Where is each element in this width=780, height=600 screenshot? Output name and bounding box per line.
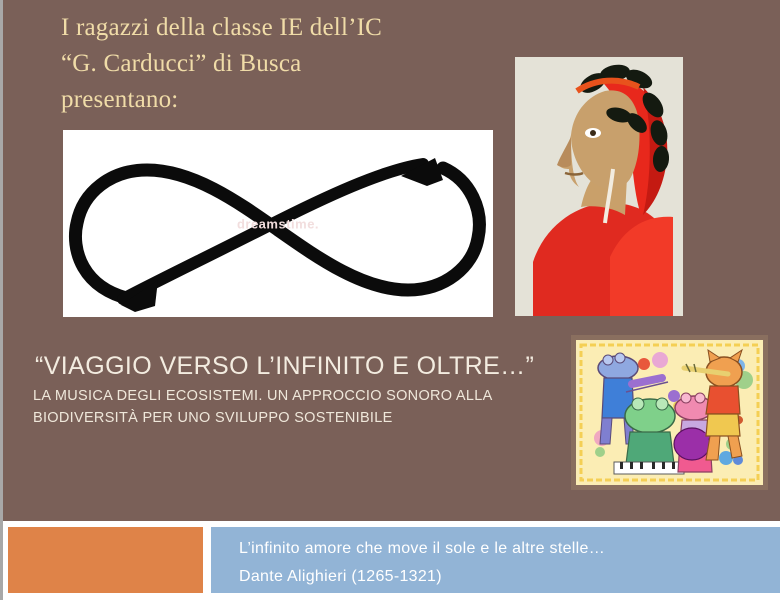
orange-accent-block <box>8 527 203 593</box>
dante-portrait-image <box>515 57 683 316</box>
infinity-symbol-image: dreamstime. <box>63 130 493 317</box>
quote-line-1: L’infinito amore che move il sole e le a… <box>239 535 605 563</box>
slide-title: I ragazzi della classe IE dell’IC “G. Ca… <box>61 10 511 118</box>
dante-portrait-graphic <box>515 57 683 316</box>
presentation-slide: I ragazzi della classe IE dell’IC “G. Ca… <box>0 0 780 600</box>
slide-subtitle: LA MUSICA DEGLI ECOSISTEMI. UN APPROCCIO… <box>33 385 533 429</box>
frog-band-graphic <box>576 340 763 485</box>
quote-bar: L’infinito amore che move il sole e le a… <box>211 527 780 593</box>
title-line-1: I ragazzi della classe IE dell’IC <box>61 10 511 46</box>
frog-band-image <box>571 335 768 490</box>
title-line-2: “G. Carducci” di Busca <box>61 46 511 82</box>
slide-headline: “VIAGGIO VERSO L’INFINITO E OLTRE…” <box>35 352 534 381</box>
infinity-icon <box>63 130 493 317</box>
title-line-3: presentano: <box>61 82 511 118</box>
quote-line-2: Dante Alighieri (1265-1321) <box>239 563 605 591</box>
quote-container: L’infinito amore che move il sole e le a… <box>239 535 605 591</box>
